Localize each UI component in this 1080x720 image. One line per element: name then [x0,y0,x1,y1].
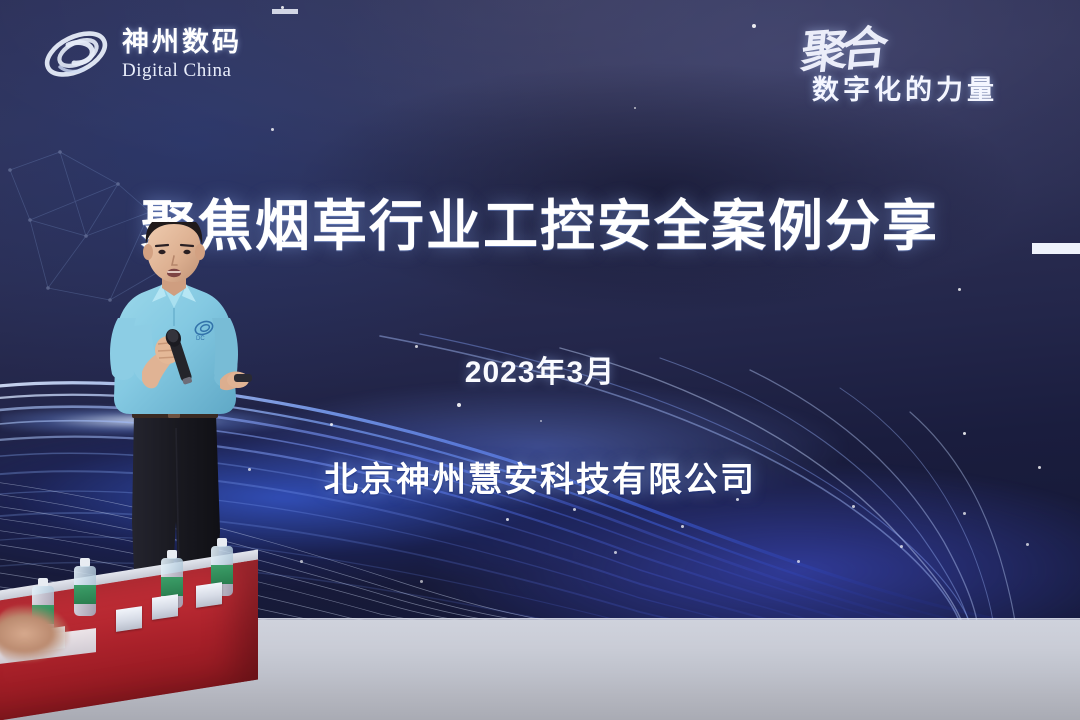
name-card-face [116,606,142,632]
particle-dot [752,24,756,28]
logo-text-en: Digital China [122,61,242,80]
name-card [152,596,178,618]
seated-person-arm [0,604,70,670]
particle-dot [634,107,636,109]
bottle-label [211,565,233,584]
name-card-face [152,594,178,620]
water-bottle [74,566,96,616]
particle-dot [958,288,961,291]
svg-text:DC: DC [196,336,205,342]
logo-text-cn: 神州数码 [122,29,242,56]
name-card-face [196,582,222,608]
presenter-clicker [234,374,252,382]
digital-china-logo: 神州数码 Digital China [40,18,285,90]
name-card [196,584,222,606]
decor-bar-topleft [272,9,298,14]
bottle-label [74,585,96,604]
particle-dot [271,128,274,131]
event-logo-subtitle: 数字化的力量 [812,68,998,107]
conference-photo: 神州数码 Digital China 聚合 数字化的力量 聚焦烟草行业工控安全案… [0,0,1080,720]
event-logo: 聚合 数字化的力量 [788,14,1058,114]
particle-dot [281,6,284,9]
digital-china-swirl-icon [40,23,112,85]
bottle-body [74,566,96,616]
bottle-label [161,577,183,596]
name-card [116,608,142,630]
